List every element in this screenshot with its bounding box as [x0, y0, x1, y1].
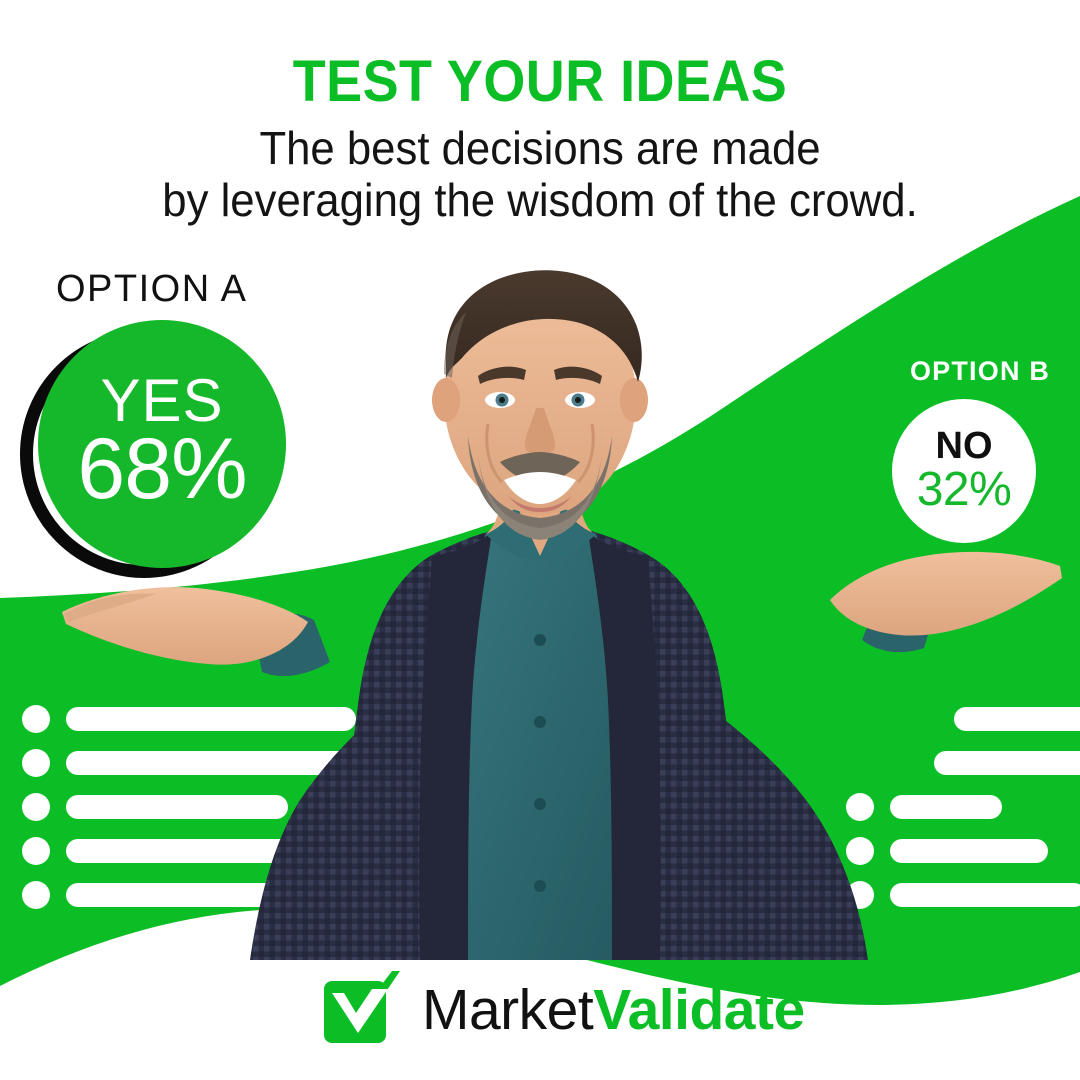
- poster-canvas: TEST YOUR IDEAS The best decisions are m…: [0, 0, 1080, 1080]
- headline-block: TEST YOUR IDEAS The best decisions are m…: [0, 52, 1080, 226]
- bullet-dot-icon: [22, 837, 50, 865]
- brand-logo-text: MarketValidate: [422, 982, 805, 1039]
- list-item: [22, 881, 356, 909]
- option-b-answer: NO: [936, 427, 993, 465]
- list-bar: [66, 883, 356, 907]
- bullet-dot-icon: [22, 705, 50, 733]
- list-bar: [954, 707, 1080, 731]
- list-bar: [66, 795, 288, 819]
- list-bar: [934, 751, 1080, 775]
- subtitle-line-2: by leveraging the wisdom of the crowd.: [27, 175, 1053, 227]
- list-bar: [890, 795, 1002, 819]
- list-item: [22, 837, 356, 865]
- option-a-label: OPTION A: [56, 270, 320, 308]
- list-bar: [890, 839, 1048, 863]
- bullet-dot-icon: [846, 793, 874, 821]
- option-a-circle[interactable]: YES 68%: [38, 320, 286, 568]
- page-subtitle: The best decisions are made by leveragin…: [27, 123, 1053, 226]
- list-item: [846, 881, 1080, 909]
- option-b-group[interactable]: OPTION B NO 32%: [890, 358, 1070, 543]
- list-item: [846, 705, 1080, 733]
- option-a-dial[interactable]: YES 68%: [20, 320, 288, 588]
- list-item: [846, 793, 1080, 821]
- brand-name-part1: Market: [422, 978, 593, 1042]
- option-b-percent: 32%: [917, 466, 1012, 514]
- bullet-dot-icon: [22, 749, 50, 777]
- bullet-dot-icon: [22, 881, 50, 909]
- list-bar: [66, 707, 356, 731]
- list-bar: [66, 839, 356, 863]
- option-b-label: OPTION B: [890, 358, 1070, 385]
- list-bar: [890, 883, 1080, 907]
- green-checkbox-check-icon: [322, 971, 400, 1049]
- list-item: [22, 793, 356, 821]
- subtitle-line-1: The best decisions are made: [27, 123, 1053, 175]
- option-a-group[interactable]: OPTION A YES 68%: [20, 270, 320, 588]
- bullet-dot-icon: [22, 793, 50, 821]
- option-a-detail-list: [22, 705, 356, 925]
- list-item: [22, 749, 356, 777]
- bullet-dot-icon: [846, 881, 874, 909]
- page-title: TEST YOUR IDEAS: [38, 52, 1042, 111]
- option-b-dial[interactable]: NO 32%: [892, 399, 1036, 543]
- bullet-dot-icon: [846, 837, 874, 865]
- brand-name-part2: Validate: [593, 978, 804, 1042]
- list-item: [846, 749, 1080, 777]
- list-bar: [66, 751, 356, 775]
- list-item: [846, 837, 1080, 865]
- list-item: [22, 705, 356, 733]
- brand-logo[interactable]: MarketValidate: [322, 968, 805, 1052]
- option-a-percent: 68%: [77, 429, 246, 511]
- option-b-detail-list: [846, 705, 1080, 925]
